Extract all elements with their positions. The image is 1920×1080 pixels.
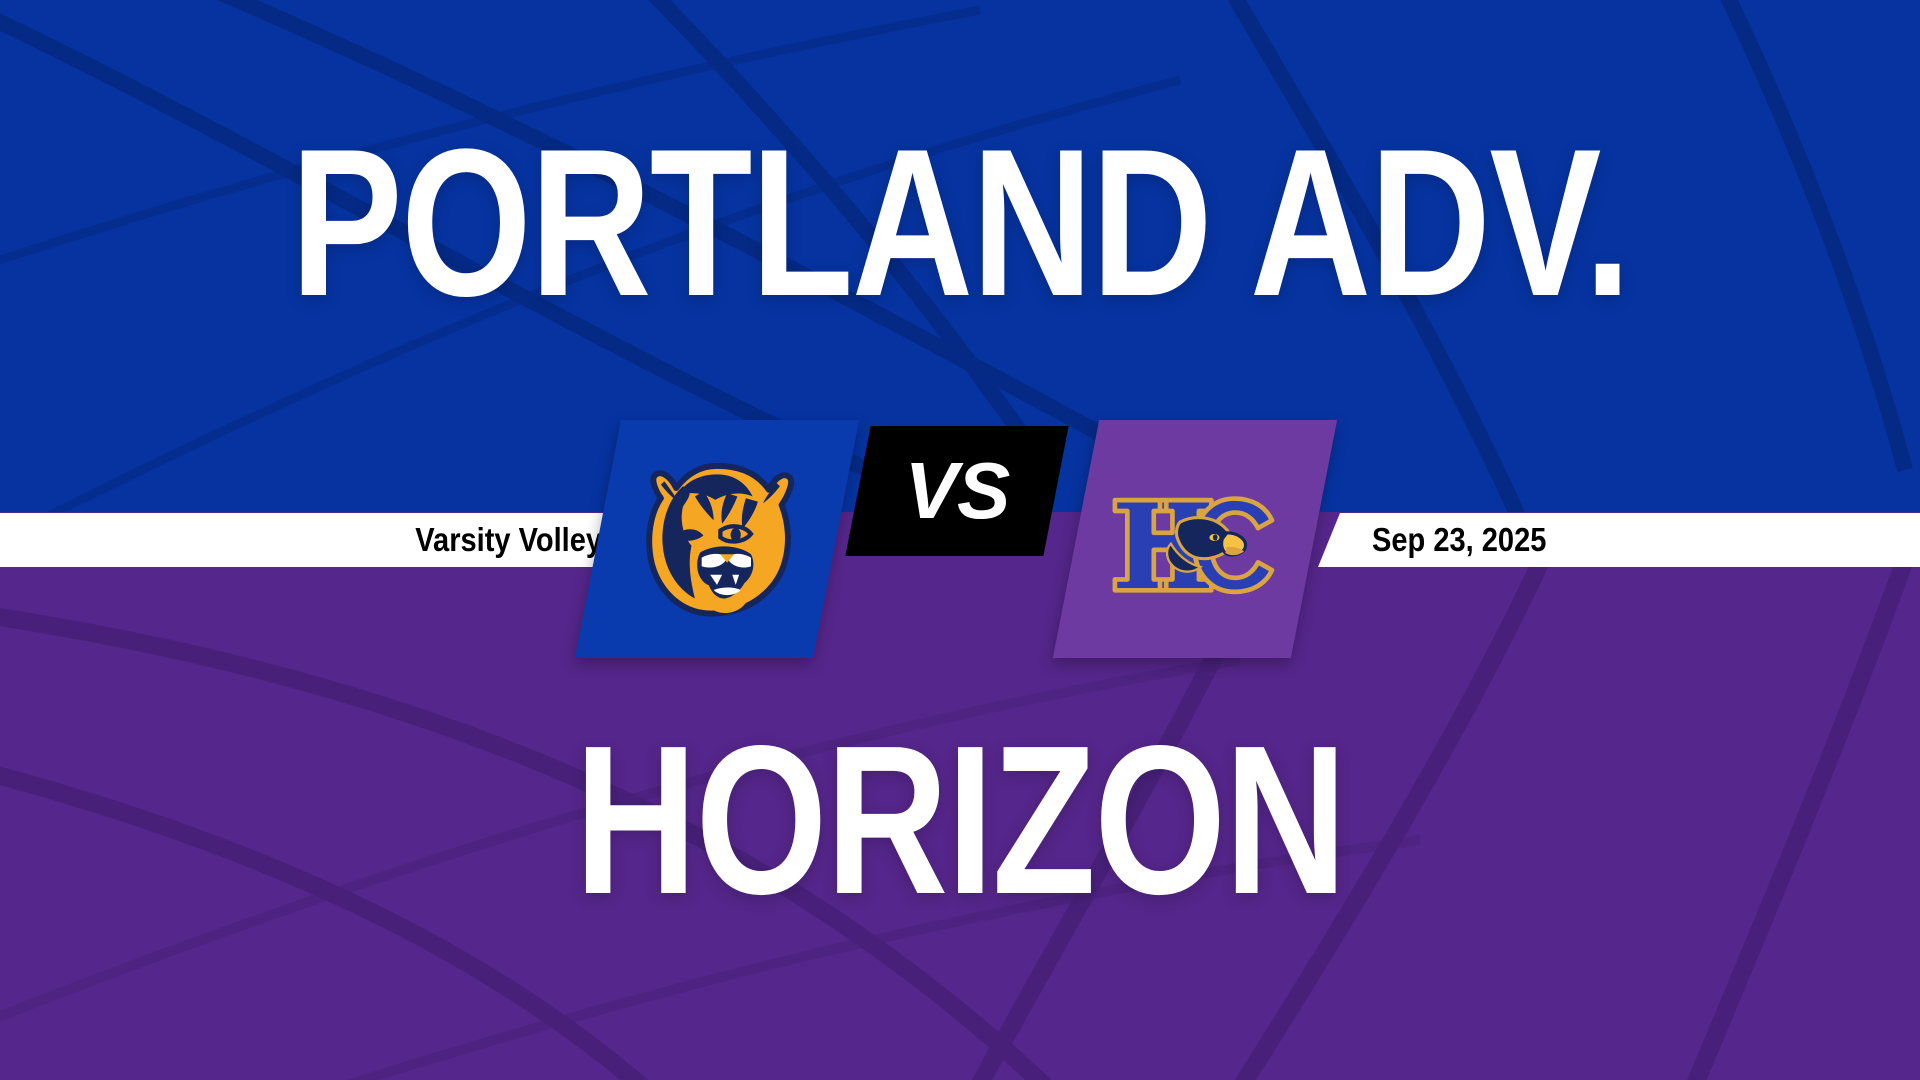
matchup-cards: VS <box>590 420 1330 670</box>
hc-hawk-logo-icon <box>1105 469 1285 609</box>
home-team-name: PORTLAND ADV. <box>192 118 1728 328</box>
home-team-card <box>575 420 859 658</box>
date-banner-right: Sep 23, 2025 <box>1318 513 1920 567</box>
away-team-name: HORIZON <box>192 714 1728 926</box>
cougar-head-icon <box>632 454 802 624</box>
matchup-graphic: PORTLAND ADV. HORIZON Varsity Volleyball… <box>0 0 1920 1080</box>
versus-card: VS <box>845 426 1068 556</box>
versus-inner: VS <box>858 426 1056 556</box>
away-logo-wrap <box>1076 420 1314 658</box>
date-label: Sep 23, 2025 <box>1372 521 1546 559</box>
versus-label: VS <box>905 451 1010 531</box>
home-logo-wrap <box>598 420 836 658</box>
away-team-card <box>1053 420 1337 658</box>
